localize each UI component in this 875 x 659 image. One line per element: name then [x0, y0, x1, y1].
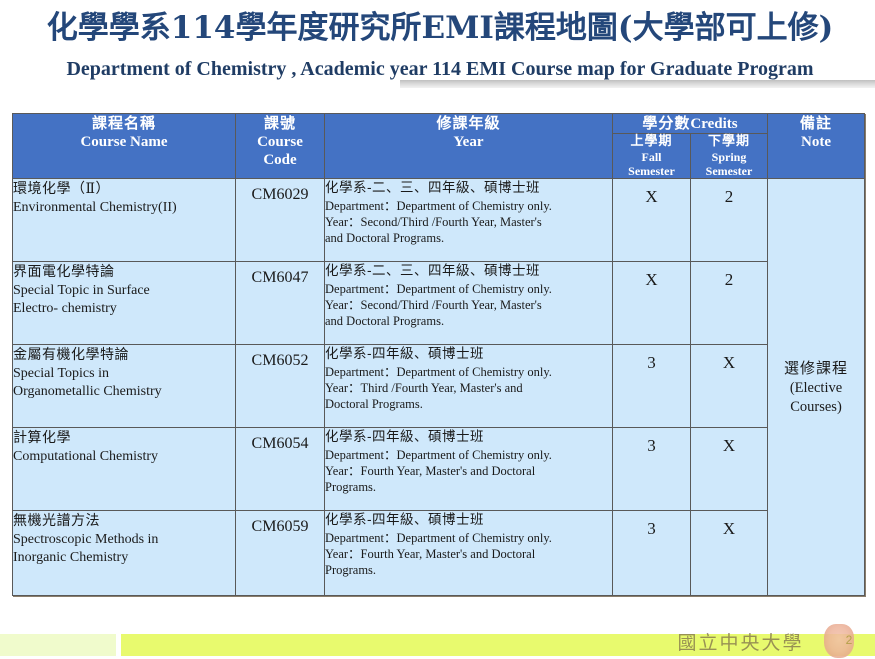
year-en-1: Department：Department of Chemistry only. — [325, 281, 612, 297]
course-name-en-2: Inorganic Chemistry — [13, 549, 235, 567]
cell-fall-credits: X — [613, 179, 691, 262]
col-header-course-code-en-1: Course — [236, 133, 324, 151]
course-map-table: 課程名稱 Course Name 課號 Course Code 修課年級 Yea… — [12, 113, 865, 596]
table-header-row-1: 課程名稱 Course Name 課號 Course Code 修課年級 Yea… — [13, 114, 865, 134]
year-zh: 化學系-四年級、碩博士班 — [325, 511, 612, 530]
cell-spring-credits: X — [691, 428, 768, 511]
col-header-fall-en-1: Fall — [613, 150, 690, 164]
col-header-fall-zh: 上學期 — [613, 134, 690, 150]
year-en-1: Department：Department of Chemistry only. — [325, 364, 612, 380]
table-row: 環境化學（Ⅱ） Environmental Chemistry(II) CM60… — [13, 179, 865, 262]
course-name-zh: 金屬有機化學特論 — [13, 345, 235, 365]
course-name-en: Environmental Chemistry(II) — [13, 199, 235, 217]
course-name-en-1: Special Topic in Surface — [13, 282, 235, 300]
cell-course-code: CM6047 — [236, 262, 325, 345]
col-header-course-code-zh: 課號 — [236, 114, 324, 133]
year-zh: 化學系-四年級、碩博士班 — [325, 428, 612, 447]
col-header-course-name-zh: 課程名稱 — [13, 114, 235, 133]
cell-year: 化學系-四年級、碩博士班 Department：Department of Ch… — [325, 511, 613, 596]
year-en-2: Year：Second/Third /Fourth Year, Master's — [325, 214, 612, 230]
slide-page: 化學學系114學年度研究所EMI課程地圖(大學部可上修) Department … — [0, 0, 875, 659]
table-row: 計算化學 Computational Chemistry CM6054 化學系-… — [13, 428, 865, 511]
note-en-2: Courses) — [772, 398, 860, 417]
col-header-note-en: Note — [768, 133, 864, 151]
year-en-1: Department：Department of Chemistry only. — [325, 198, 612, 214]
course-name-zh: 界面電化學特論 — [13, 262, 235, 282]
cell-spring-credits: X — [691, 345, 768, 428]
col-header-credits-en: Credits — [690, 116, 737, 132]
note-zh: 選修課程 — [772, 357, 860, 379]
year-zh: 化學系-二、三、四年級、碩博士班 — [325, 179, 612, 198]
cell-course-name: 界面電化學特論 Special Topic in Surface Electro… — [13, 262, 236, 345]
cell-course-code: CM6059 — [236, 511, 325, 596]
year-zh: 化學系-二、三、四年級、碩博士班 — [325, 262, 612, 281]
year-en-3: Programs. — [325, 562, 612, 578]
cell-spring-credits: 2 — [691, 179, 768, 262]
page-number: 2 — [840, 630, 858, 650]
col-header-year-en: Year — [325, 133, 612, 151]
cell-fall-credits: 3 — [613, 428, 691, 511]
course-name-zh: 環境化學（Ⅱ） — [13, 179, 235, 199]
year-en-2: Year：Third /Fourth Year, Master's and — [325, 380, 612, 396]
table-row: 無機光譜方法 Spectroscopic Methods in Inorgani… — [13, 511, 865, 596]
cell-course-name: 計算化學 Computational Chemistry — [13, 428, 236, 511]
cell-course-name: 金屬有機化學特論 Special Topics in Organometalli… — [13, 345, 236, 428]
title-divider-bar — [400, 80, 875, 88]
year-en-1: Department：Department of Chemistry only. — [325, 447, 612, 463]
col-header-credits-zh: 學分數 — [642, 114, 690, 132]
col-header-spring-zh: 下學期 — [691, 134, 767, 150]
page-title-zh: 化學學系114學年度研究所EMI課程地圖(大學部可上修) — [10, 8, 870, 48]
col-header-note-zh: 備註 — [768, 114, 864, 133]
cell-fall-credits: X — [613, 262, 691, 345]
col-header-year: 修課年級 Year — [325, 114, 613, 179]
col-header-spring-en-1: Spring — [691, 150, 767, 164]
university-logo-text: 國立中央大學 — [668, 630, 813, 657]
col-header-note: 備註 Note — [768, 114, 865, 179]
table-row: 金屬有機化學特論 Special Topics in Organometalli… — [13, 345, 865, 428]
cell-year: 化學系-二、三、四年級、碩博士班 Department：Department o… — [325, 262, 613, 345]
course-name-en-1: Computational Chemistry — [13, 448, 235, 466]
course-name-en-2: Organometallic Chemistry — [13, 383, 235, 401]
col-header-course-name: 課程名稱 Course Name — [13, 114, 236, 179]
col-header-credits-group: 學分數Credits — [613, 114, 768, 134]
course-name-en-2: Electro- chemistry — [13, 300, 235, 318]
cell-note: 選修課程 (Elective Courses) — [768, 179, 865, 596]
cell-year: 化學系-四年級、碩博士班 Department：Department of Ch… — [325, 428, 613, 511]
col-header-spring-semester: 下學期 Spring Semester — [691, 134, 768, 179]
course-name-zh: 無機光譜方法 — [13, 511, 235, 531]
cell-course-code: CM6054 — [236, 428, 325, 511]
col-header-fall-en-2: Semester — [613, 164, 690, 178]
cell-fall-credits: 3 — [613, 511, 691, 596]
cell-course-code: CM6052 — [236, 345, 325, 428]
col-header-course-code: 課號 Course Code — [236, 114, 325, 179]
cell-year: 化學系-四年級、碩博士班 Department：Department of Ch… — [325, 345, 613, 428]
table-row: 界面電化學特論 Special Topic in Surface Electro… — [13, 262, 865, 345]
year-en-1: Department：Department of Chemistry only. — [325, 530, 612, 546]
course-name-en-1: Spectroscopic Methods in — [13, 531, 235, 549]
year-en-3: Programs. — [325, 479, 612, 495]
note-en-1: (Elective — [772, 379, 860, 398]
cell-spring-credits: 2 — [691, 262, 768, 345]
col-header-course-name-en: Course Name — [13, 133, 235, 151]
col-header-course-code-en-2: Code — [236, 151, 324, 169]
year-en-2: Year：Fourth Year, Master's and Doctoral — [325, 546, 612, 562]
col-header-year-zh: 修課年級 — [325, 114, 612, 133]
col-header-spring-en-2: Semester — [691, 164, 767, 178]
cell-course-name: 無機光譜方法 Spectroscopic Methods in Inorgani… — [13, 511, 236, 596]
year-en-3: Doctoral Programs. — [325, 396, 612, 412]
footer-accent-bar-left — [0, 634, 116, 656]
cell-course-name: 環境化學（Ⅱ） Environmental Chemistry(II) — [13, 179, 236, 262]
year-en-2: Year：Fourth Year, Master's and Doctoral — [325, 463, 612, 479]
year-en-2: Year：Second/Third /Fourth Year, Master's — [325, 297, 612, 313]
year-en-3: and Doctoral Programs. — [325, 230, 612, 246]
cell-course-code: CM6029 — [236, 179, 325, 262]
year-zh: 化學系-四年級、碩博士班 — [325, 345, 612, 364]
cell-fall-credits: 3 — [613, 345, 691, 428]
page-title-en: Department of Chemistry , Academic year … — [10, 56, 870, 82]
course-name-zh: 計算化學 — [13, 428, 235, 448]
course-name-en-1: Special Topics in — [13, 365, 235, 383]
col-header-fall-semester: 上學期 Fall Semester — [613, 134, 691, 179]
cell-spring-credits: X — [691, 511, 768, 596]
year-en-3: and Doctoral Programs. — [325, 313, 612, 329]
cell-year: 化學系-二、三、四年級、碩博士班 Department：Department o… — [325, 179, 613, 262]
